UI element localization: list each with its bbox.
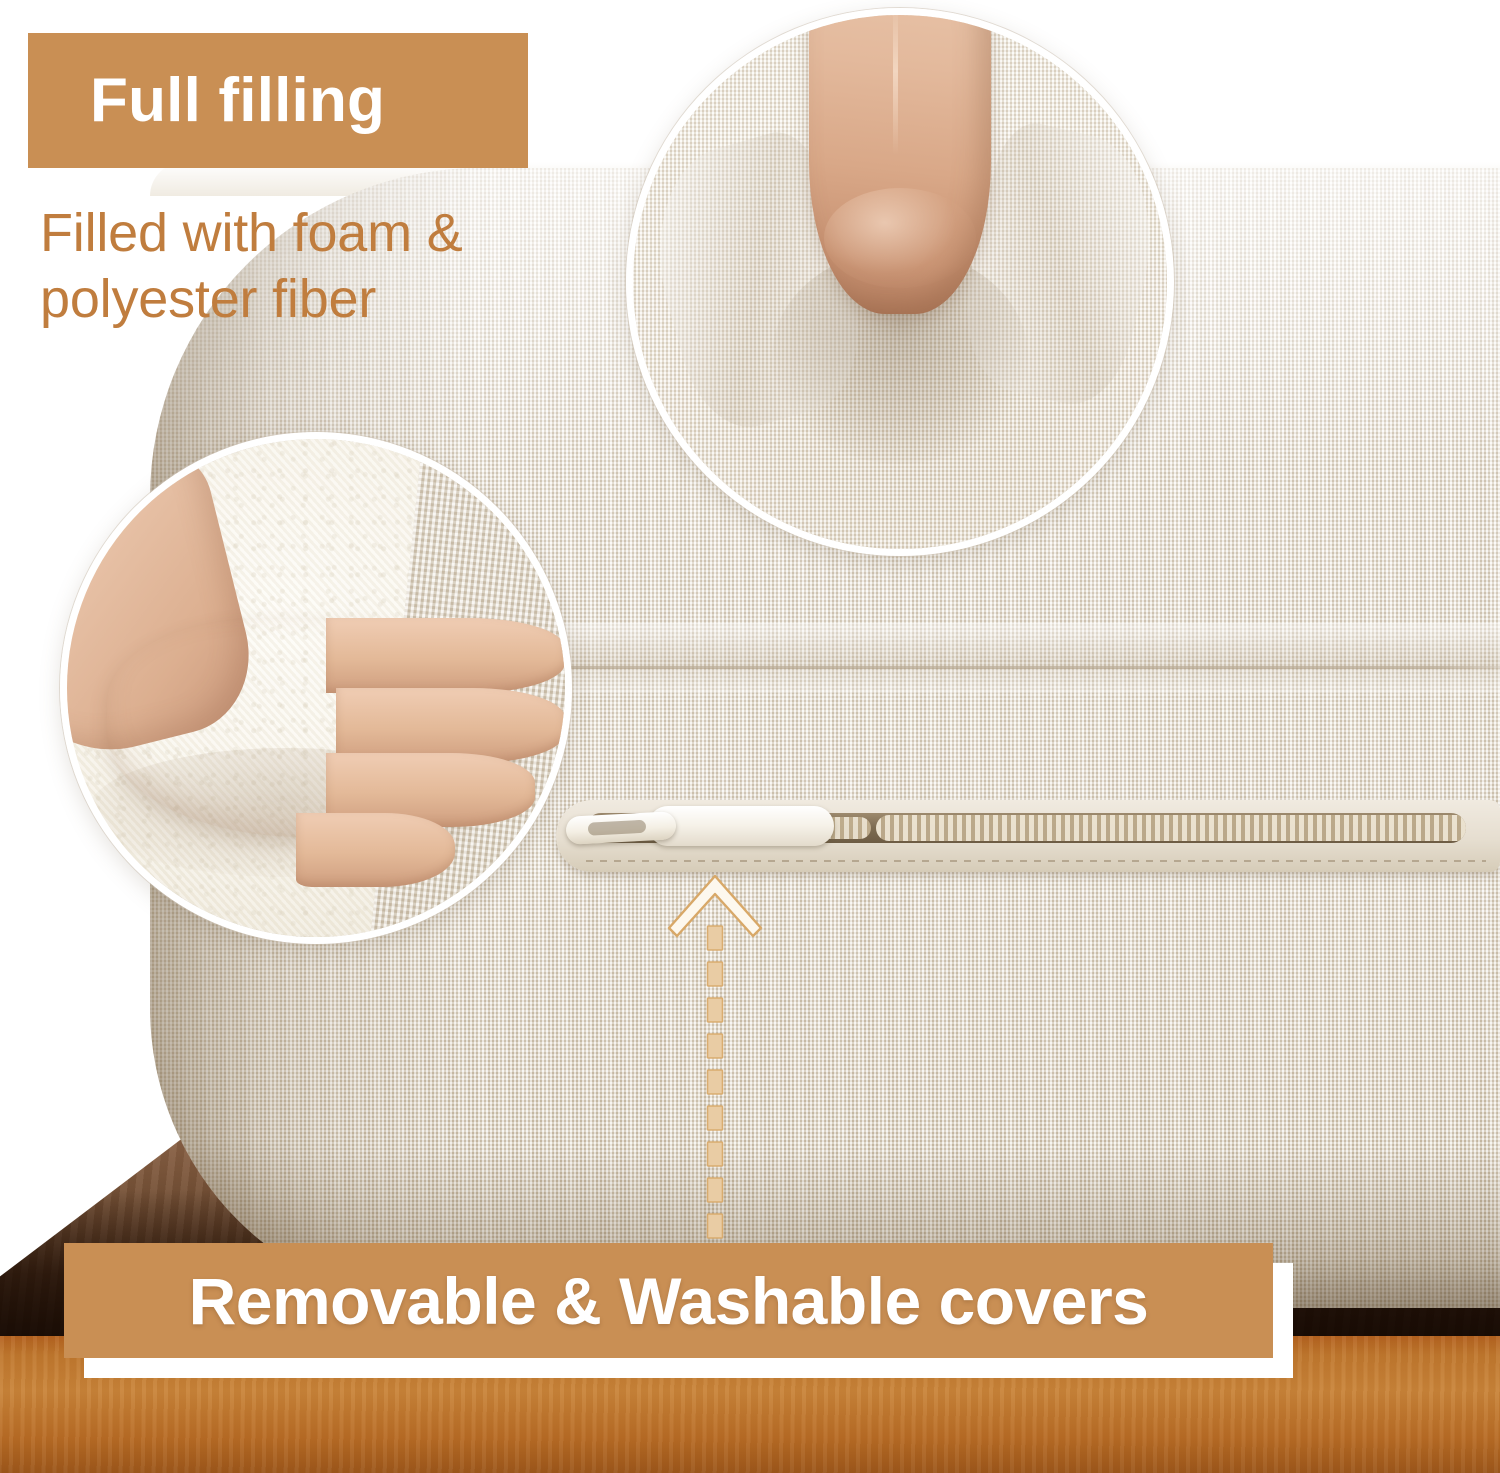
zipper-pull-tab xyxy=(565,811,676,845)
finger-index xyxy=(326,618,565,693)
zipper-closure xyxy=(556,800,1500,878)
washable-covers-banner: Removable & Washable covers xyxy=(64,1243,1273,1358)
zipper-pointer-arrow xyxy=(660,870,770,1252)
fist-tendon-highlight xyxy=(893,8,898,155)
filling-description-line-2: polyester fiber xyxy=(40,266,640,332)
foam-press-inset xyxy=(60,432,572,944)
filling-description-line-1: Filled with foam & xyxy=(40,200,640,266)
zipper-stitch-line xyxy=(586,860,1486,862)
finger-middle xyxy=(336,688,565,763)
full-filling-badge-label: Full filling xyxy=(90,70,385,132)
full-filling-badge: Full filling xyxy=(28,33,528,168)
zipper-pull-hole xyxy=(588,820,647,836)
zipper-teeth xyxy=(876,815,1466,841)
fist-press-inset xyxy=(626,8,1174,556)
finger-pinky xyxy=(296,813,455,888)
product-feature-image: Full filling Filled with foam & polyeste… xyxy=(0,0,1500,1473)
fist-knuckles xyxy=(824,188,976,287)
fist-hand xyxy=(809,8,991,314)
filling-description: Filled with foam & polyester fiber xyxy=(40,200,640,333)
washable-covers-banner-label: Removable & Washable covers xyxy=(189,1268,1149,1334)
